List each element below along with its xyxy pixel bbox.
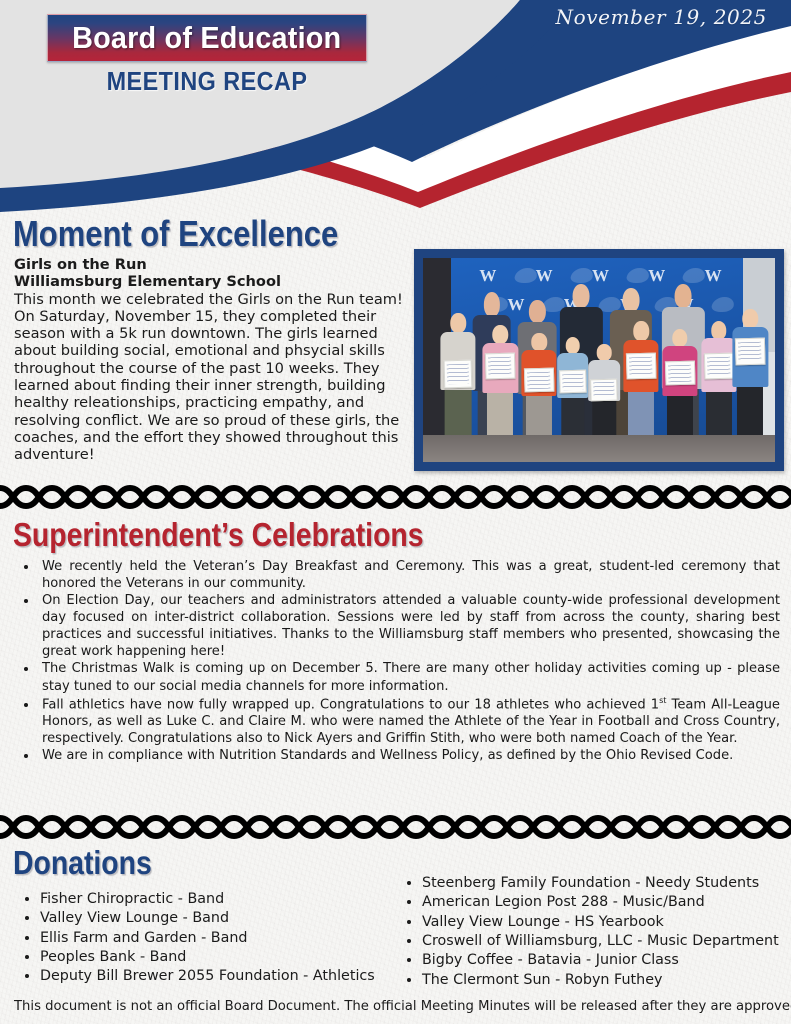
moment-of-excellence-photo-frame: W W W W W W W W W (414, 249, 784, 471)
list-item: Croswell of Williamsburg, LLC - Music De… (422, 932, 788, 951)
braid-pattern (0, 480, 791, 514)
list-item: Fall athletics have now fully wrapped up… (38, 695, 780, 748)
moe-school-name: Williamsburg Elementary School (14, 273, 406, 290)
page-header: Board of Education MEETING RECAP Novembe… (0, 0, 791, 215)
donations-right-list: Steenberg Family Foundation - Needy Stud… (398, 874, 788, 990)
list-item: We recently held the Veteran’s Day Break… (38, 558, 780, 592)
photo-person-student (588, 342, 620, 436)
moment-of-excellence-heading: Moment of Excellence (13, 216, 338, 252)
backdrop-w-logo: W (705, 266, 721, 286)
list-item: The Christmas Walk is coming up on Decem… (38, 660, 780, 694)
superintendent-celebrations-heading: Superintendent’s Celebrations (13, 518, 424, 551)
footer-disclaimer: This document is not an official Board D… (14, 999, 784, 1014)
issue-date: November 19, 2025 (556, 5, 767, 29)
list-item: We are in compliance with Nutrition Stan… (38, 747, 780, 764)
photo-person-student (624, 317, 659, 435)
list-item: Deputy Bill Brewer 2055 Foundation - Ath… (40, 967, 396, 986)
list-item: Steenberg Family Foundation - Needy Stud… (422, 874, 788, 893)
backdrop-w-logo: W (536, 266, 552, 286)
list-item: Ellis Farm and Garden - Band (40, 929, 396, 948)
photo-person-student (483, 321, 518, 435)
photo-person-student (557, 333, 589, 435)
backdrop-w-logo: W (479, 266, 495, 286)
photo-person-student (522, 329, 557, 435)
photo-person-student (441, 309, 476, 435)
photo-person-student (733, 305, 768, 436)
photo-person-student (701, 317, 736, 435)
masthead-subtitle: MEETING RECAP (63, 66, 351, 97)
list-item: Fisher Chiropractic - Band (40, 890, 396, 909)
list-item: Bigby Coffee - Batavia - Junior Class (422, 951, 788, 970)
donations-right-column: Steenberg Family Foundation - Needy Stud… (398, 874, 788, 990)
photo-floor (423, 435, 775, 462)
photo-person-student (662, 325, 697, 435)
masthead-title: Board of Education (72, 20, 341, 56)
list-item: American Legion Post 288 - Music/Band (422, 893, 788, 912)
masthead-title-box: Board of Education (47, 14, 367, 62)
donations-left-column: Fisher Chiropractic - Band Valley View L… (16, 890, 396, 987)
braided-divider-top (0, 480, 791, 514)
moment-of-excellence-text: Girls on the Run Williamsburg Elementary… (14, 256, 406, 463)
donations-left-list: Fisher Chiropractic - Band Valley View L… (16, 890, 396, 987)
superintendent-bullet-list: We recently held the Veteran’s Day Break… (16, 558, 780, 764)
list-item: Valley View Lounge - HS Yearbook (422, 913, 788, 932)
list-item: Peoples Bank - Band (40, 948, 396, 967)
moe-program-name: Girls on the Run (14, 256, 406, 273)
list-item: On Election Day, our teachers and admini… (38, 592, 780, 660)
moe-paragraph: This month we celebrated the Girls on th… (14, 291, 403, 464)
group-photo: W W W W W W W W W (423, 258, 775, 462)
braid-pattern (0, 810, 791, 844)
list-item: The Clermont Sun - Robyn Futhey (422, 971, 788, 990)
donations-heading: Donations (13, 846, 152, 879)
list-item: Valley View Lounge - Band (40, 909, 396, 928)
braided-divider-bottom (0, 810, 791, 844)
newsletter-page: Board of Education MEETING RECAP Novembe… (0, 0, 791, 1024)
